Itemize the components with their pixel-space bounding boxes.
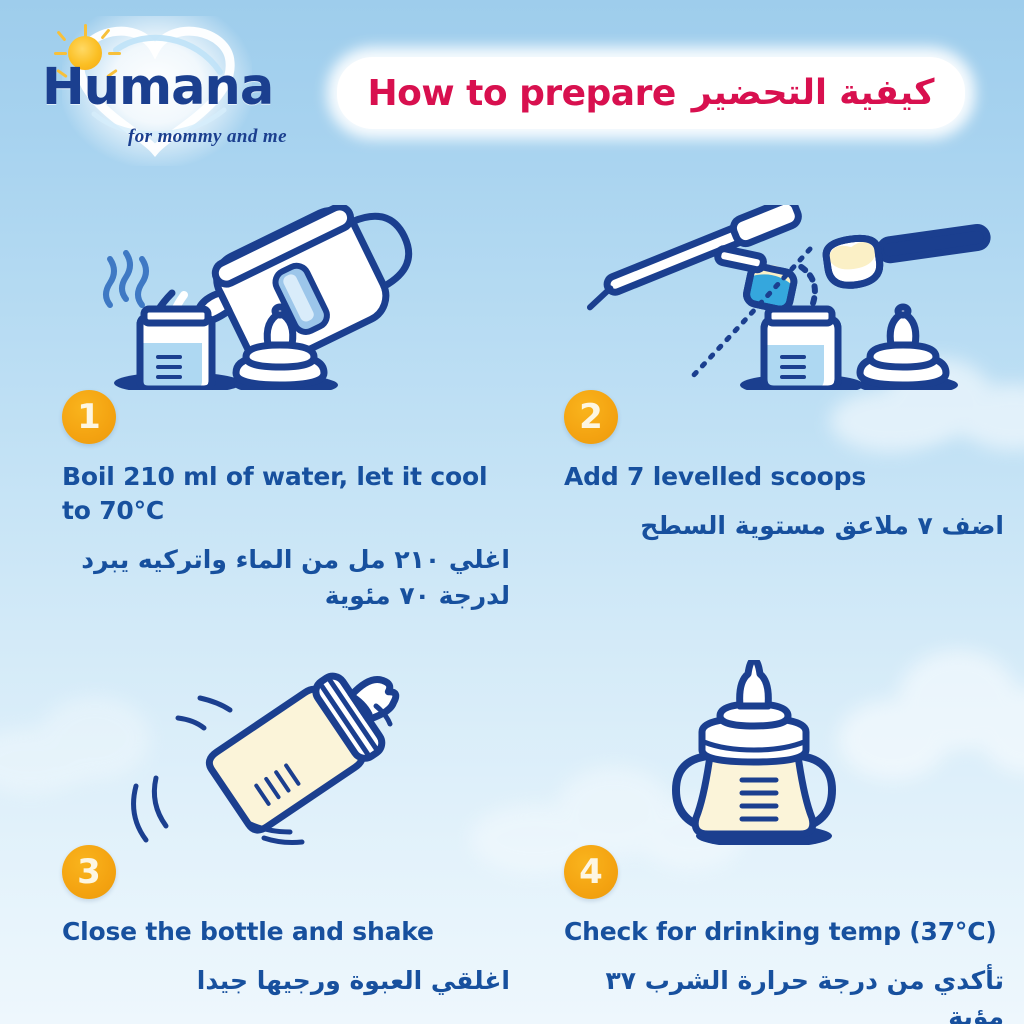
brand-tagline: for mommy and me [128,126,287,148]
title-english: How to prepare [367,73,675,114]
step-number-badge: 4 [564,845,618,899]
step-3-badge-row: 3 [50,845,520,907]
step-4-text-arabic: تأكدي من درجة حرارة الشرب ٣٧ مؤية [552,963,1022,1024]
step-4-text-english: Check for drinking temp (37°C) [552,915,1022,949]
humana-logo: Humana for mommy and me [20,10,300,160]
step-4: 4 Check for drinking temp (37°C) تأكدي م… [552,660,1022,1024]
sun-ray-icon [54,52,67,55]
step-1-badge-row: 1 [50,390,520,452]
how-to-prepare-infographic: Humana for mommy and me How to prepare ك… [0,0,1024,1024]
step-3: 3 Close the bottle and shake اغلقي العبو… [50,660,520,999]
page-title: How to prepare كيفية التحضير [337,57,965,129]
levelled-scoop-and-bottle-icon [552,205,1022,390]
step-2-text-arabic: اضف ٧ ملاعق مستوية السطح [552,508,1022,544]
brand-name: Humana [42,62,273,113]
step-2: 2 Add 7 levelled scoops اضف ٧ ملاعق مستو… [552,205,1022,544]
title-arabic: كيفية التحضير [692,73,935,113]
step-number-badge: 2 [564,390,618,444]
kettle-pouring-into-bottle-icon [50,205,520,390]
step-2-text-english: Add 7 levelled scoops [552,460,1022,494]
sun-ray-icon [108,52,121,55]
step-2-badge-row: 2 [552,390,1022,452]
shaking-bottle-icon [50,660,520,845]
step-1-text-arabic: اغلي ٢١٠ مل من الماء واتركيه يبرد لدرجة … [50,542,520,615]
step-3-text-english: Close the bottle and shake [50,915,520,949]
step-1: 1 Boil 210 ml of water, let it cool to 7… [50,205,520,614]
step-4-badge-row: 4 [552,845,1022,907]
step-3-text-arabic: اغلقي العبوة ورجيها جيدا [50,963,520,999]
step-1-text-english: Boil 210 ml of water, let it cool to 70°… [50,460,520,528]
step-number-badge: 1 [62,390,116,444]
sippy-cup-icon [552,660,1022,845]
step-number-badge: 3 [62,845,116,899]
